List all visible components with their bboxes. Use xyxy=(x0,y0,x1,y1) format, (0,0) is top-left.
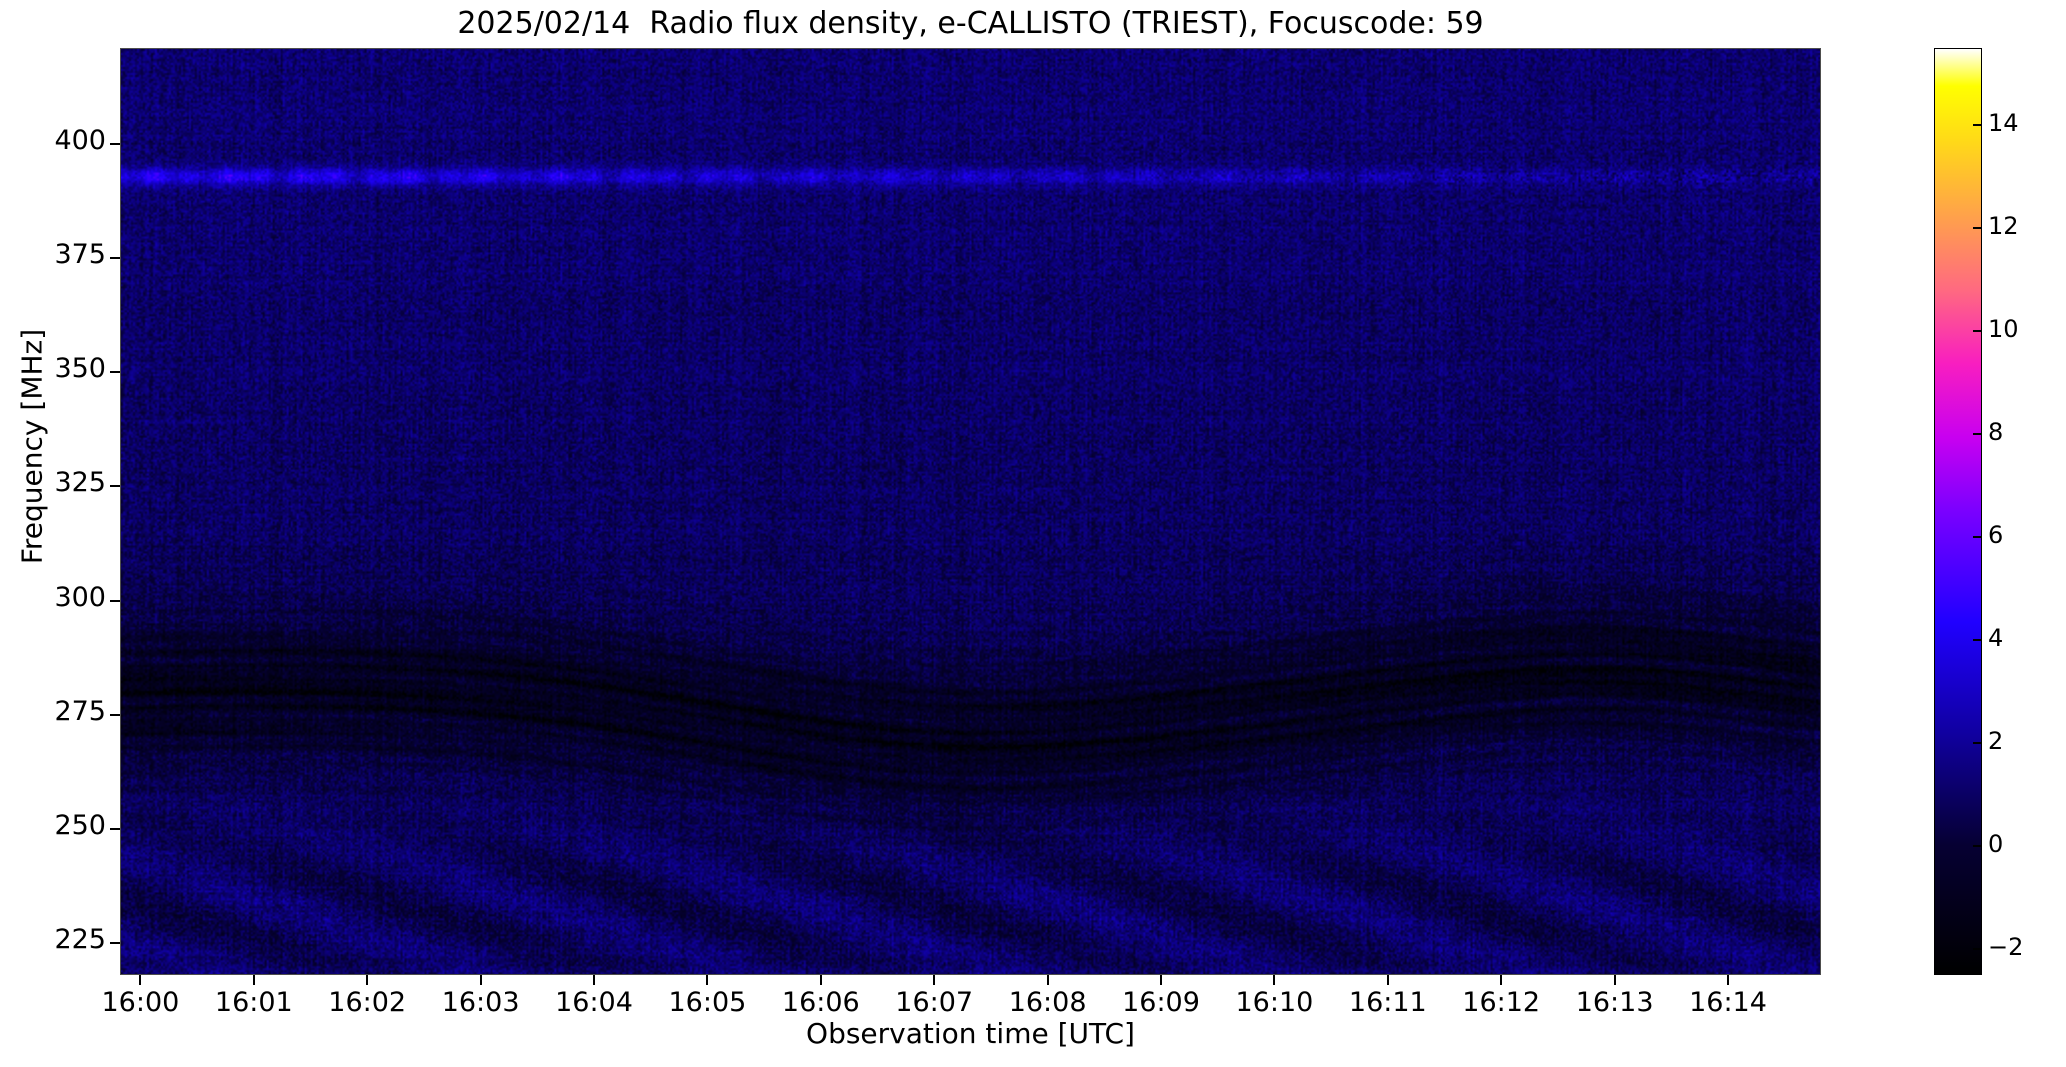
colorbar-tick-mark xyxy=(1973,742,1982,744)
x-tick-mark xyxy=(480,975,482,985)
colorbar-tick-label: 10 xyxy=(1988,315,2019,343)
x-tick-mark xyxy=(1047,975,1049,985)
y-tick-label: 250 xyxy=(6,810,106,841)
x-tick-mark xyxy=(706,975,708,985)
y-tick-label: 400 xyxy=(6,125,106,156)
colorbar-tick-mark xyxy=(1973,124,1982,126)
y-tick-mark xyxy=(110,143,120,145)
x-axis-label: Observation time [UTC] xyxy=(120,1017,1821,1050)
y-tick-mark xyxy=(110,828,120,830)
x-tick-mark xyxy=(253,975,255,985)
y-tick-mark xyxy=(110,257,120,259)
page-title: 2025/02/14 Radio flux density, e-CALLIST… xyxy=(120,6,1821,42)
figure-canvas: 2025/02/14 Radio flux density, e-CALLIST… xyxy=(0,0,2066,1067)
y-tick-label: 225 xyxy=(6,924,106,955)
x-tick-mark xyxy=(1160,975,1162,985)
y-tick-mark xyxy=(110,714,120,716)
y-tick-mark xyxy=(110,600,120,602)
colorbar[interactable] xyxy=(1934,48,1982,975)
colorbar-tick-label: 4 xyxy=(1988,624,2003,652)
x-tick-mark xyxy=(1614,975,1616,985)
y-tick-label: 350 xyxy=(6,353,106,384)
y-tick-label: 275 xyxy=(6,696,106,727)
x-tick-mark xyxy=(1273,975,1275,985)
x-tick-mark xyxy=(933,975,935,985)
x-tick-mark xyxy=(593,975,595,985)
colorbar-tick-label: 8 xyxy=(1988,418,2003,446)
x-tick-mark xyxy=(1387,975,1389,985)
colorbar-tick-mark xyxy=(1973,227,1982,229)
colorbar-tick-label: 6 xyxy=(1988,521,2003,549)
spectrogram-plot-area[interactable] xyxy=(120,48,1821,975)
x-tick-mark xyxy=(139,975,141,985)
x-tick-mark xyxy=(1727,975,1729,985)
colorbar-tick-mark xyxy=(1973,536,1982,538)
y-tick-label: 375 xyxy=(6,239,106,270)
colorbar-label: dB above background xyxy=(2062,129,2066,529)
y-tick-mark xyxy=(110,485,120,487)
colorbar-tick-mark xyxy=(1973,845,1982,847)
x-tick-mark xyxy=(820,975,822,985)
colorbar-tick-mark xyxy=(1973,330,1982,332)
x-tick-mark xyxy=(366,975,368,985)
colorbar-tick-label: 14 xyxy=(1988,109,2019,137)
colorbar-tick-label: 2 xyxy=(1988,727,2003,755)
colorbar-gradient xyxy=(1935,49,1981,974)
x-tick-mark xyxy=(1500,975,1502,985)
colorbar-tick-label: 12 xyxy=(1988,212,2019,240)
y-tick-label: 300 xyxy=(6,582,106,613)
y-tick-mark xyxy=(110,371,120,373)
colorbar-tick-label: −2 xyxy=(1988,933,2023,961)
y-tick-label: 325 xyxy=(6,467,106,498)
x-tick-label: 16:14 xyxy=(1658,987,1798,1018)
colorbar-tick-mark xyxy=(1973,639,1982,641)
spectrogram-image xyxy=(121,49,1820,974)
colorbar-tick-mark xyxy=(1973,433,1982,435)
y-tick-mark xyxy=(110,942,120,944)
colorbar-tick-label: 0 xyxy=(1988,830,2003,858)
colorbar-tick-mark xyxy=(1973,948,1982,950)
